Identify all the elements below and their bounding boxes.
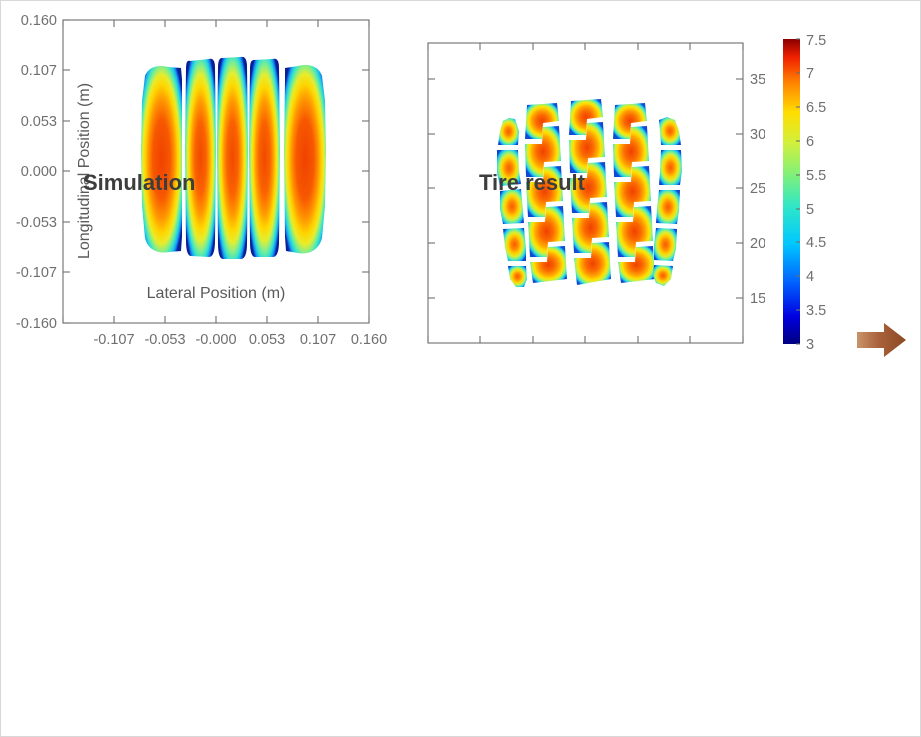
- colorbar-tick-label: 7: [806, 66, 814, 82]
- simulation-contact-patch: [141, 57, 326, 259]
- x-tick-label: -0.053: [144, 332, 185, 348]
- tread-rib: [185, 59, 216, 257]
- y-tick-label: 0.000: [21, 164, 57, 180]
- x-axis-title: Lateral Position (m): [147, 285, 286, 302]
- tread-rib: [217, 57, 248, 259]
- tread-block: [654, 228, 677, 261]
- tread-column: [497, 118, 527, 287]
- y-tick-label: 0.053: [21, 114, 57, 130]
- right-arrow-icon: [854, 319, 910, 361]
- colorbar-tick-label: 3.5: [806, 303, 826, 319]
- pressure-colorbar: 7.5 7 6.5 6 5.5 5 4.5 4 3.5 3: [770, 21, 850, 361]
- tread-rib: [249, 59, 280, 257]
- tread-rib: [141, 66, 182, 252]
- colorbar-tick-label: 3: [806, 337, 814, 353]
- simulation-x-ticklabels: -0.107 -0.053 -0.000 0.053 0.107 0.160: [93, 332, 387, 348]
- x-tick-label: 0.053: [249, 332, 285, 348]
- x-tick-label: -0.107: [93, 332, 134, 348]
- colorbar-tick-label: 5: [806, 202, 814, 218]
- colorbar-tick-label: 5.5: [806, 168, 826, 184]
- x-tick-label: -0.000: [195, 332, 236, 348]
- colorbar-tick-label: 4: [806, 269, 814, 285]
- tread-block: [508, 266, 527, 287]
- y-tick-label: 300: [750, 127, 765, 143]
- x-tick-label: 0.160: [351, 332, 387, 348]
- tread-block: [659, 117, 681, 145]
- simulation-chart: 0.160 0.107 0.053 0.000 -0.053 -0.107 -0…: [1, 1, 401, 361]
- tire-y-ticklabels: 350 300 250 200 150: [750, 72, 765, 307]
- tread-block: [653, 265, 673, 286]
- x-tick-label: 0.107: [300, 332, 336, 348]
- y-tick-label: 350: [750, 72, 765, 88]
- page-title-tire-result: Tire result: [479, 170, 585, 196]
- tread-column: [613, 103, 655, 283]
- tread-block: [656, 190, 680, 224]
- y-tick-label: -0.107: [16, 265, 57, 281]
- tread-block: [503, 228, 526, 261]
- tread-column: [653, 117, 682, 286]
- colorbar-tick-label: 6: [806, 134, 814, 150]
- y-tick-label: -0.160: [16, 316, 57, 332]
- y-tick-label: -0.053: [16, 215, 57, 231]
- colorbar-gradient: [783, 39, 800, 344]
- y-tick-label: 150: [750, 291, 765, 307]
- simulation-y-ticklabels: 0.160 0.107 0.053 0.000 -0.053 -0.107 -0…: [16, 13, 57, 332]
- y-tick-label: 250: [750, 181, 765, 197]
- tire-result-chart: 350 300 250 200 150: [405, 21, 765, 361]
- colorbar-ticklabels: 7.5 7 6.5 6 5.5 5 4.5 4 3.5 3: [806, 33, 826, 353]
- page-root: Simulation Tire result: [0, 0, 921, 737]
- y-tick-label: 200: [750, 236, 765, 252]
- y-tick-label: 0.160: [21, 13, 57, 29]
- tread-block: [659, 150, 682, 185]
- colorbar-tick-label: 6.5: [806, 100, 826, 116]
- tread-rib: [284, 65, 326, 253]
- y-tick-label: 0.107: [21, 63, 57, 79]
- page-title-simulation: Simulation: [83, 170, 195, 196]
- tread-block: [498, 118, 519, 145]
- colorbar-tick-label: 7.5: [806, 33, 826, 49]
- arrow-shape: [857, 323, 906, 357]
- colorbar-tick-label: 4.5: [806, 235, 826, 251]
